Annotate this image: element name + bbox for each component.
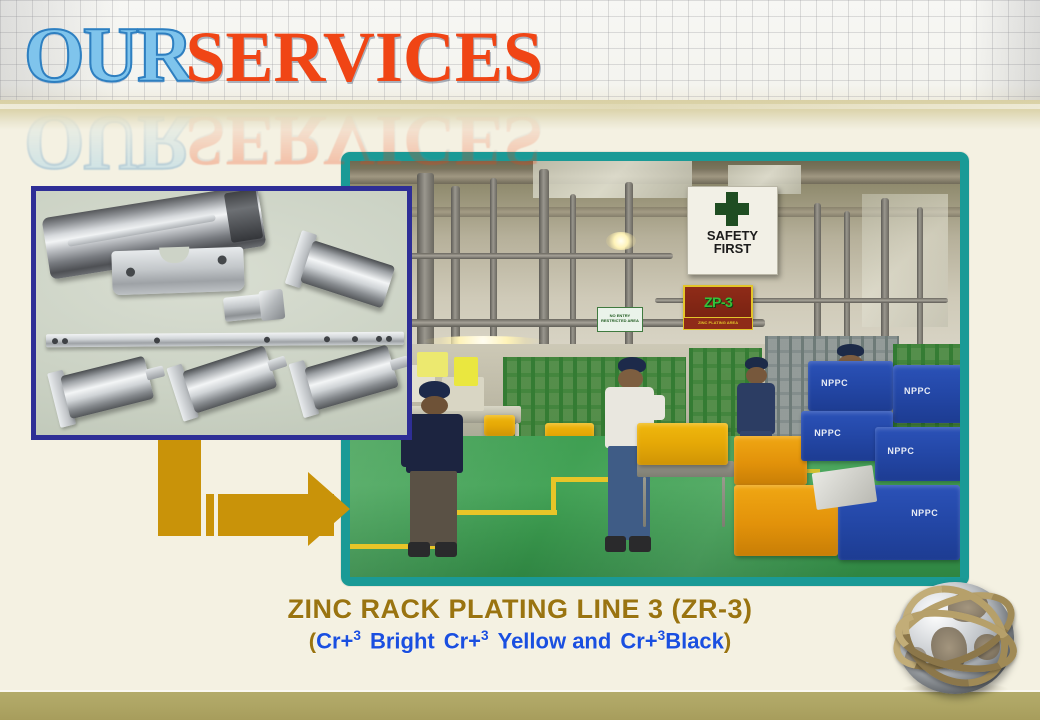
bracket-notch [159,247,190,264]
hex-fitting [223,292,281,322]
vertical-pipe [917,207,923,353]
mounting-bracket [111,247,244,296]
caption-seg1-word: Bright [370,628,435,653]
yellow-crate [637,423,729,465]
worker-head [746,367,767,384]
cart-leg [722,477,725,527]
cone-body [182,345,277,413]
zinc-plated-metal-parts-photo [31,186,412,440]
crate-label: NPPC [887,446,914,456]
caption-seg1-sup: 3 [353,628,361,643]
yellow-tag [417,352,448,377]
caption-close-paren: ) [724,628,731,653]
bottom-khaki-bar [0,692,1040,720]
blue-crate: NPPC [875,427,960,481]
safety-sign-line2: FIRST [714,242,752,255]
hex-fitting-head [258,289,285,321]
caption-seg1-base: Cr+ [316,628,353,653]
bottom-bar-highlight [0,690,1040,692]
bracket-hole [217,255,226,264]
zp3-sign-sub: ZINC PLATING AREA [683,317,753,330]
cart-leg [643,477,646,527]
zp3-sign-label: ZP-3 [704,294,732,310]
cone-body [60,356,154,419]
worker-shoe [435,542,457,556]
green-cross-icon [715,192,749,226]
worker-shoe [605,536,626,552]
top-grid-texture-band [0,0,1040,106]
safety-sign-line1: SAFETY [707,229,758,242]
ceiling-lamp [606,232,636,250]
caption-seg2-base: Cr+ [444,628,481,653]
factory-photo-scene: SAFETY FIRST ZP-3 ZINC PLATING AREA NO E… [350,161,960,577]
caption-seg2-word: Yellow and [498,628,612,653]
blue-crate: NPPC [893,365,960,423]
vertical-pipe [451,186,460,352]
cone-body [300,240,395,308]
parts-photo-background [36,191,407,435]
crate-label: NPPC [911,508,938,518]
worker-head [618,369,643,389]
caption-open-paren: ( [309,628,316,653]
vertical-pipe [570,194,576,352]
khaki-strip-sheen [0,104,1040,109]
factory-worker [399,381,491,560]
worker-shoe [629,536,651,552]
zp3-sign: ZP-3 [683,285,753,319]
worker-torso [406,414,463,473]
vertical-pipe [490,178,497,357]
caption-seg3-word: Black [665,628,724,653]
cylinder-end [224,189,263,243]
cone-body [304,344,399,410]
worker-torso [737,383,775,434]
slide-caption: ZINC RACK PLATING LINE 3 (ZR-3) (Cr+3Bri… [0,594,1040,654]
vertical-pipe [539,169,549,356]
orange-crate [734,436,807,486]
cylinder-groove [67,214,216,247]
floor-safety-line [551,477,556,514]
vertical-pipe [844,211,850,352]
arrow-head [308,472,350,546]
vertical-pipe [814,203,821,353]
cone-stud [267,356,288,372]
safety-first-sign: SAFETY FIRST [687,186,779,275]
slide-root: OURSERVICES OURSERVICES [0,0,1040,720]
arrow-vertical-stem [158,440,201,536]
caption-line-2: (Cr+3BrightCr+3Yellow andCr+3Black) [0,628,1040,654]
long-slide-rail [46,332,404,347]
roof-window [533,161,692,198]
metallic-globe-decoration [888,578,1034,702]
vertical-pipe [417,173,434,356]
cone-stud [145,365,165,380]
top-band-left-shade [0,0,120,106]
vertical-pipe [881,198,889,352]
factory-photo: SAFETY FIRST ZP-3 ZINC PLATING AREA NO E… [341,152,969,586]
restricted-area-sign: NO ENTRY RESTRICTED AREA [597,307,643,332]
worker-legs [410,471,458,546]
arrow-tick [206,494,214,536]
worker-arm [642,395,666,419]
wall-window [862,194,947,327]
worker-shoe [408,542,430,556]
blue-crate: NPPC [808,361,893,411]
horizontal-pipe [381,253,674,259]
worker-head [421,396,448,416]
caption-seg3-base: Cr+ [620,628,657,653]
top-band-right-shade [970,0,1040,106]
caption-line-1: ZINC RACK PLATING LINE 3 (ZR-3) [0,594,1040,625]
gold-elbow-arrow [158,440,358,544]
crate-label: NPPC [821,378,848,388]
cone-stud [389,355,409,371]
caption-seg2-sup: 3 [481,628,489,643]
bracket-hole [126,268,135,277]
crate-label: NPPC [814,428,841,438]
crate-label: NPPC [904,386,931,396]
